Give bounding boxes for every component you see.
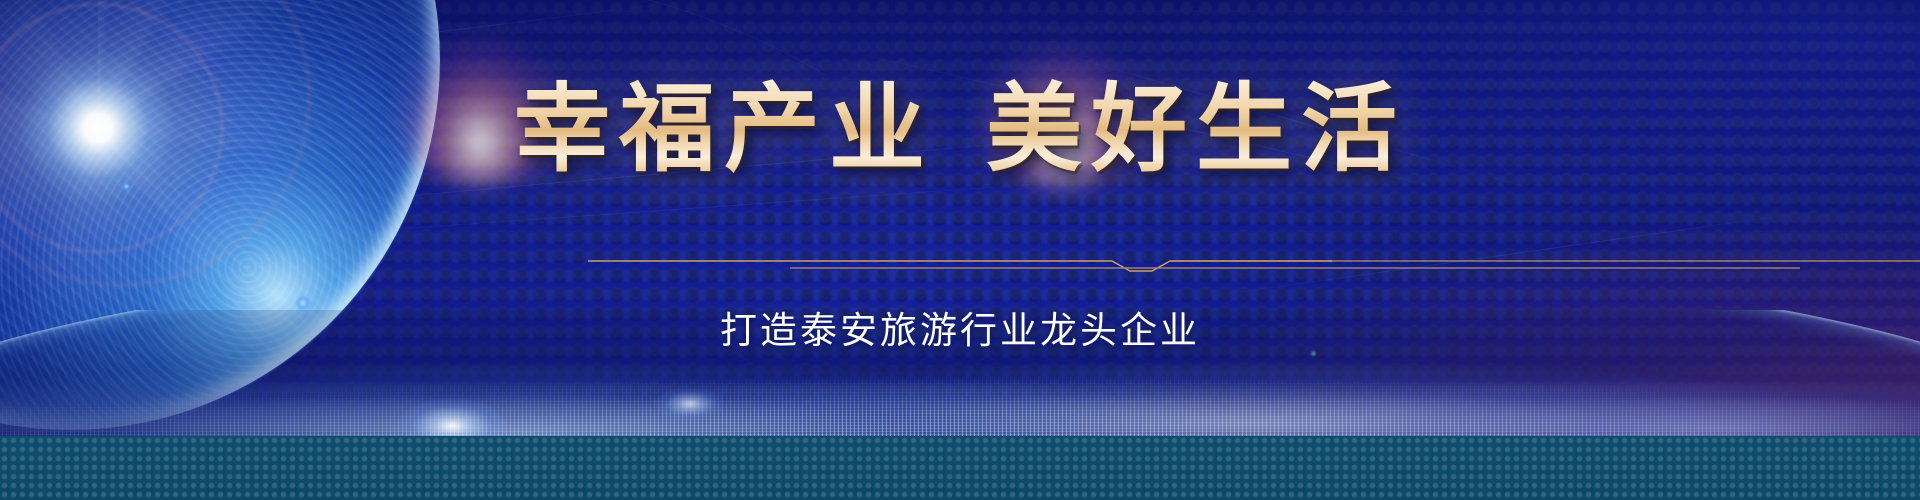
hero-banner: 幸福产业美好生活 打造泰安旅游行业龙头企业 bbox=[0, 0, 1920, 500]
sparkle-dot bbox=[296, 296, 310, 310]
sparkle-dot bbox=[122, 182, 131, 191]
bottom-overlay-bar bbox=[0, 436, 1920, 500]
flare-core bbox=[0, 28, 198, 228]
sparkle-dot bbox=[1310, 350, 1317, 357]
city-light-burst-secondary bbox=[655, 387, 725, 421]
